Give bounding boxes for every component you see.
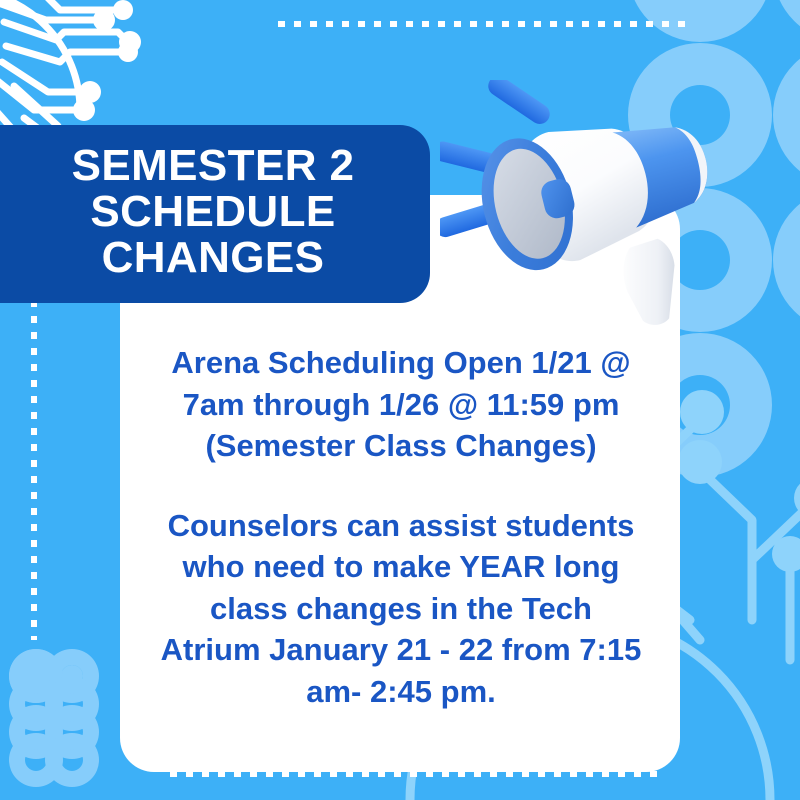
ring-pattern-bottom-left: [9, 649, 99, 787]
megaphone-icon: [440, 80, 770, 330]
title-banner: SEMESTER 2 SCHEDULE CHANGES: [0, 125, 430, 303]
announcement-body: Arena Scheduling Open 1/21 @ 7am through…: [128, 342, 674, 712]
megaphone-handle: [616, 236, 688, 330]
announcement-paragraph-1: Arena Scheduling Open 1/21 @ 7am through…: [128, 342, 674, 467]
megaphone-body-group: [468, 95, 741, 330]
page-title: SEMESTER 2 SCHEDULE CHANGES: [56, 143, 355, 282]
announcement-paragraph-2: Counselors can assist students who need …: [128, 505, 674, 713]
poster-canvas: SEMESTER 2 SCHEDULE CHANGES Arena Schedu…: [0, 0, 800, 800]
